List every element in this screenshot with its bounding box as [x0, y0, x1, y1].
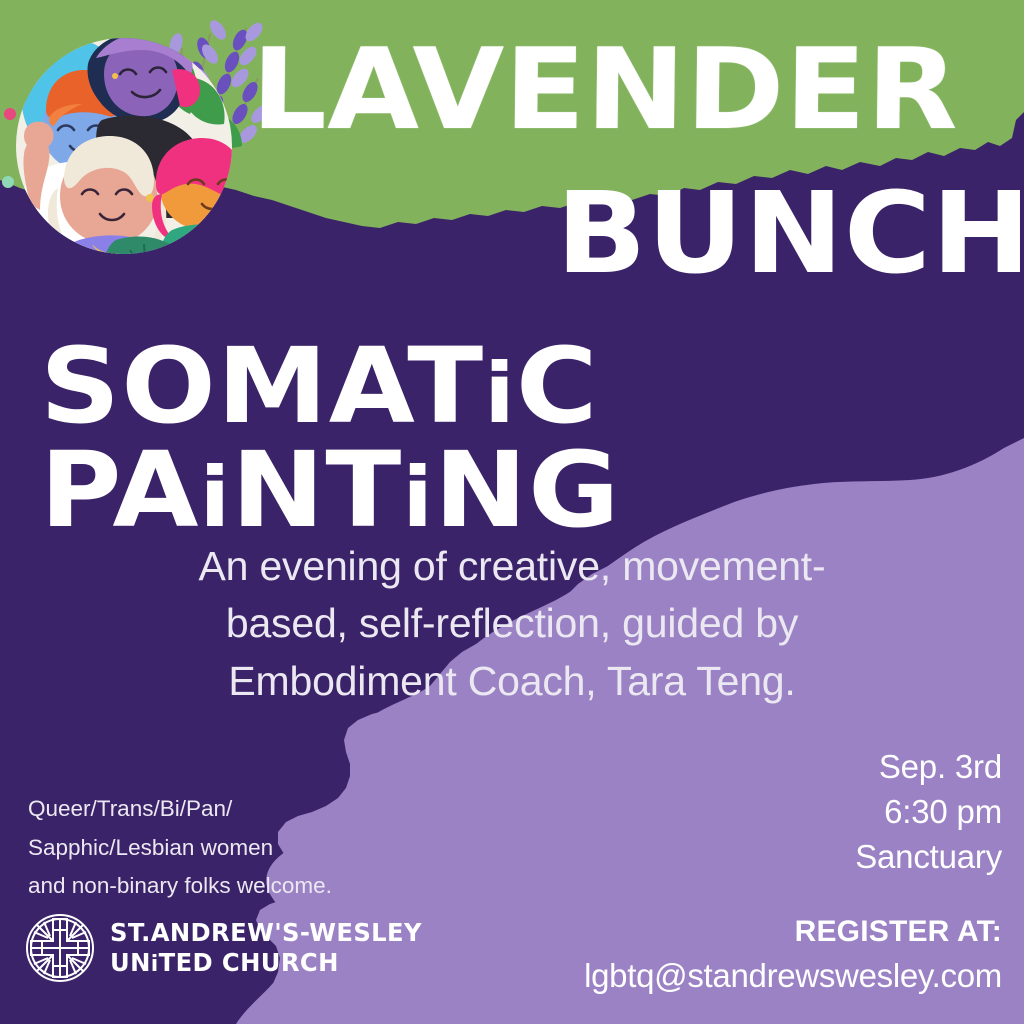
poster-canvas: LAVENDER BUNCH: SOMATiC PAiNTiNG An even…: [0, 0, 1024, 1024]
inclusivity-note: Queer/Trans/Bi/Pan/ Sapphic/Lesbian wome…: [28, 790, 428, 906]
church-logo-text: ST.ANDREW'S-WESLEY UNiTED CHURCH: [110, 918, 422, 979]
title-line-somatic-painting: SOMATiC PAiNTiNG: [40, 334, 1024, 542]
event-location: Sanctuary: [672, 835, 1002, 880]
decorative-dot: [4, 108, 16, 120]
event-description: An evening of creative, movement-based, …: [150, 538, 874, 710]
church-name-line-2: UNiTED CHURCH: [110, 948, 339, 977]
celtic-cross-rose-window-icon: [24, 912, 96, 984]
four-people-embracing-circle-illustration: [0, 18, 264, 276]
event-date: Sep. 3rd: [672, 745, 1002, 790]
inclusivity-note-line-3: and non-binary folks welcome.: [28, 867, 428, 906]
register-email-link[interactable]: lgbtq@standrewswesley.com: [584, 957, 1002, 995]
title-line-lavender: LAVENDER: [251, 34, 959, 146]
event-details: Sep. 3rd 6:30 pm Sanctuary: [672, 745, 1002, 880]
title-line-bunch: BUNCH:: [556, 178, 1024, 290]
church-logo[interactable]: ST.ANDREW'S-WESLEY UNiTED CHURCH: [24, 912, 432, 984]
register-label: REGISTER AT:: [795, 915, 1002, 949]
inclusivity-note-line-2: Sapphic/Lesbian women: [28, 829, 428, 868]
circle-scene: [16, 32, 262, 276]
inclusivity-note-line-1: Queer/Trans/Bi/Pan/: [28, 790, 428, 829]
event-time: 6:30 pm: [672, 790, 1002, 835]
church-name-line-1: ST.ANDREW'S-WESLEY: [110, 918, 422, 947]
decorative-dot: [2, 176, 14, 188]
